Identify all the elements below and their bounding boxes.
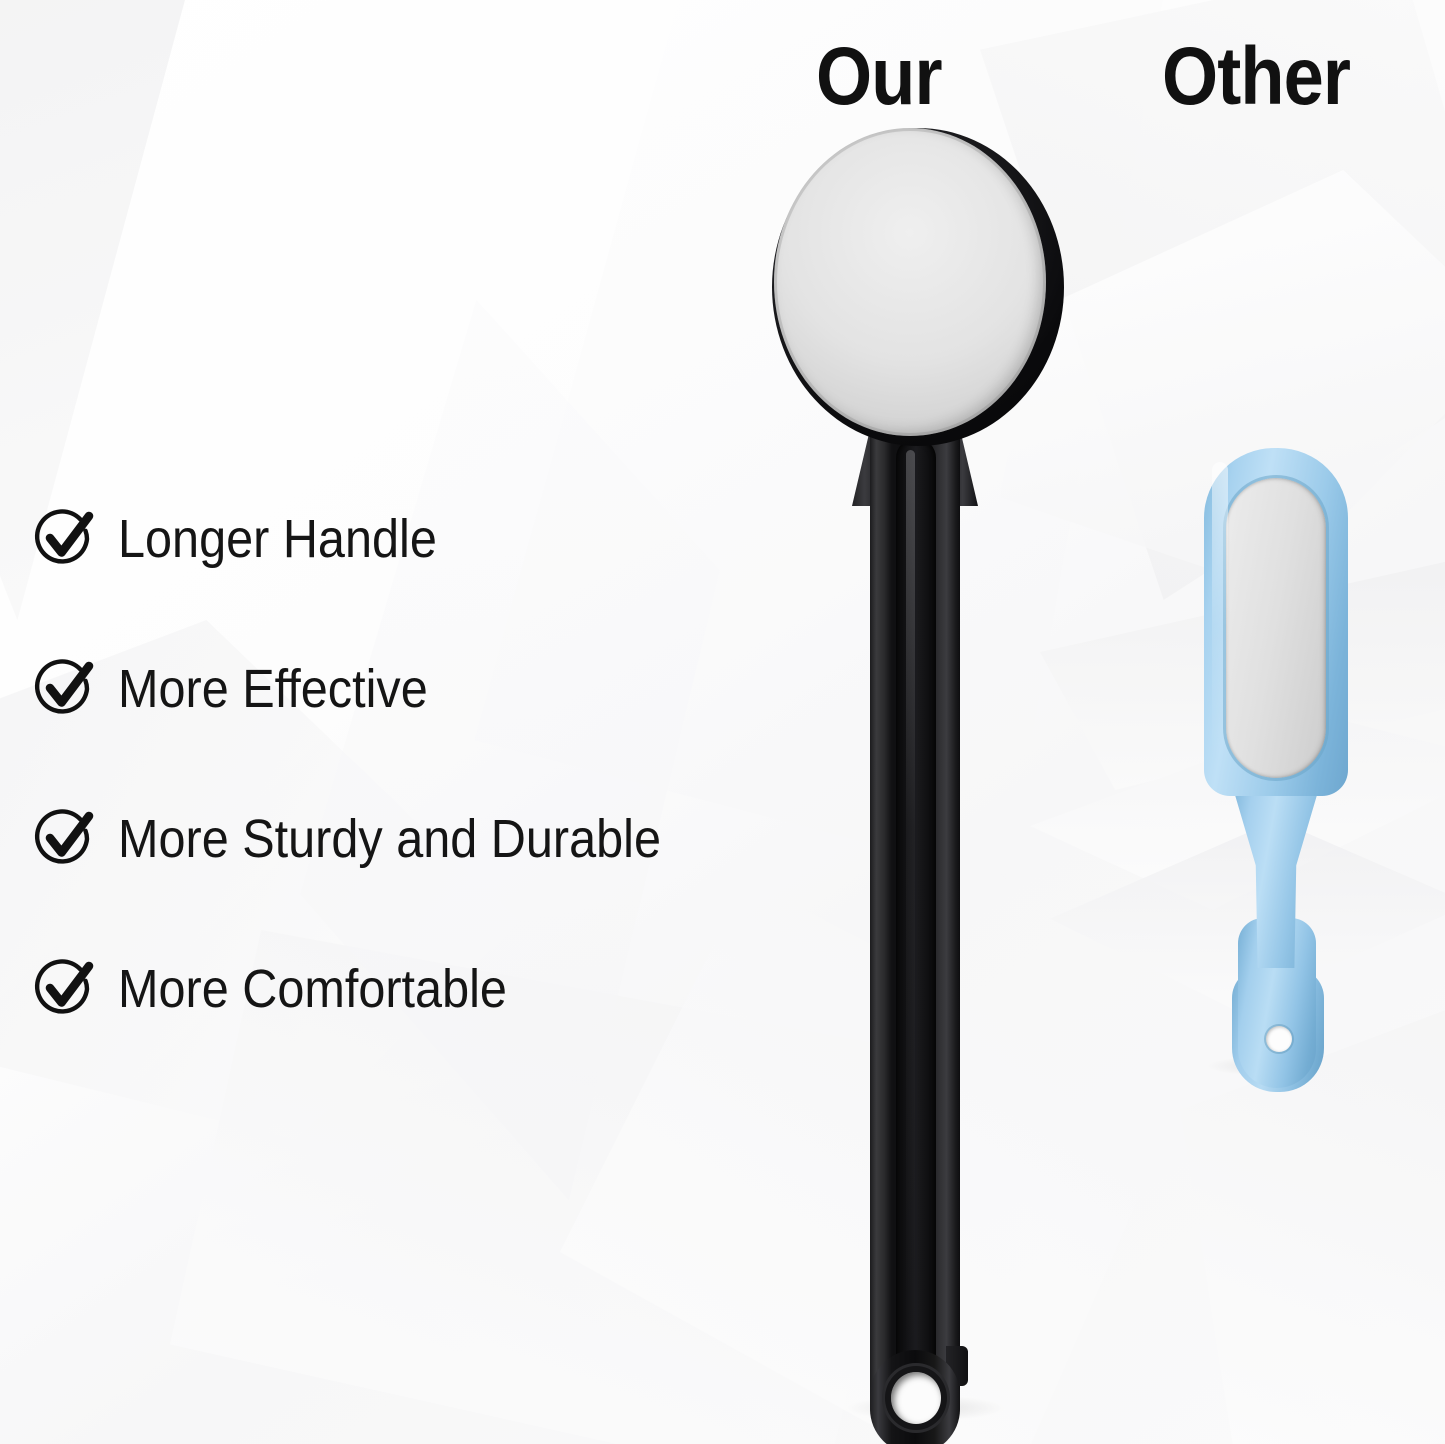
hang-hole: [1266, 1026, 1292, 1052]
benefit-item: More Sturdy and Durable: [34, 808, 794, 870]
benefit-label: More Comfortable: [118, 958, 507, 1020]
column-heading-other: Other: [1162, 36, 1350, 118]
benefit-label: More Sturdy and Durable: [118, 808, 661, 870]
benefit-label: More Effective: [118, 658, 428, 720]
benefit-label: Longer Handle: [118, 508, 437, 570]
benefits-list: Longer Handle More Effective More Sturdy…: [34, 508, 794, 1020]
handle-highlight: [906, 450, 915, 1390]
pumice-rim: [774, 128, 1046, 436]
check-circle-icon: [34, 508, 96, 570]
blue-handle-highlight: [1212, 462, 1228, 762]
check-circle-icon: [34, 658, 96, 720]
benefit-item: More Comfortable: [34, 958, 794, 1020]
pumice-pad-rim: [1226, 478, 1326, 778]
column-heading-our: Our: [816, 36, 942, 118]
product-comparison-image: Our Other Longer Handle More Effective: [0, 0, 1445, 1444]
hang-hole: [891, 1372, 941, 1424]
benefit-item: Longer Handle: [34, 508, 794, 570]
other-product-image: [1196, 448, 1356, 1068]
handle-groove: [896, 438, 936, 1428]
check-circle-icon: [34, 808, 96, 870]
benefit-item: More Effective: [34, 658, 794, 720]
check-circle-icon: [34, 958, 96, 1020]
our-product-image: [760, 120, 1070, 1444]
